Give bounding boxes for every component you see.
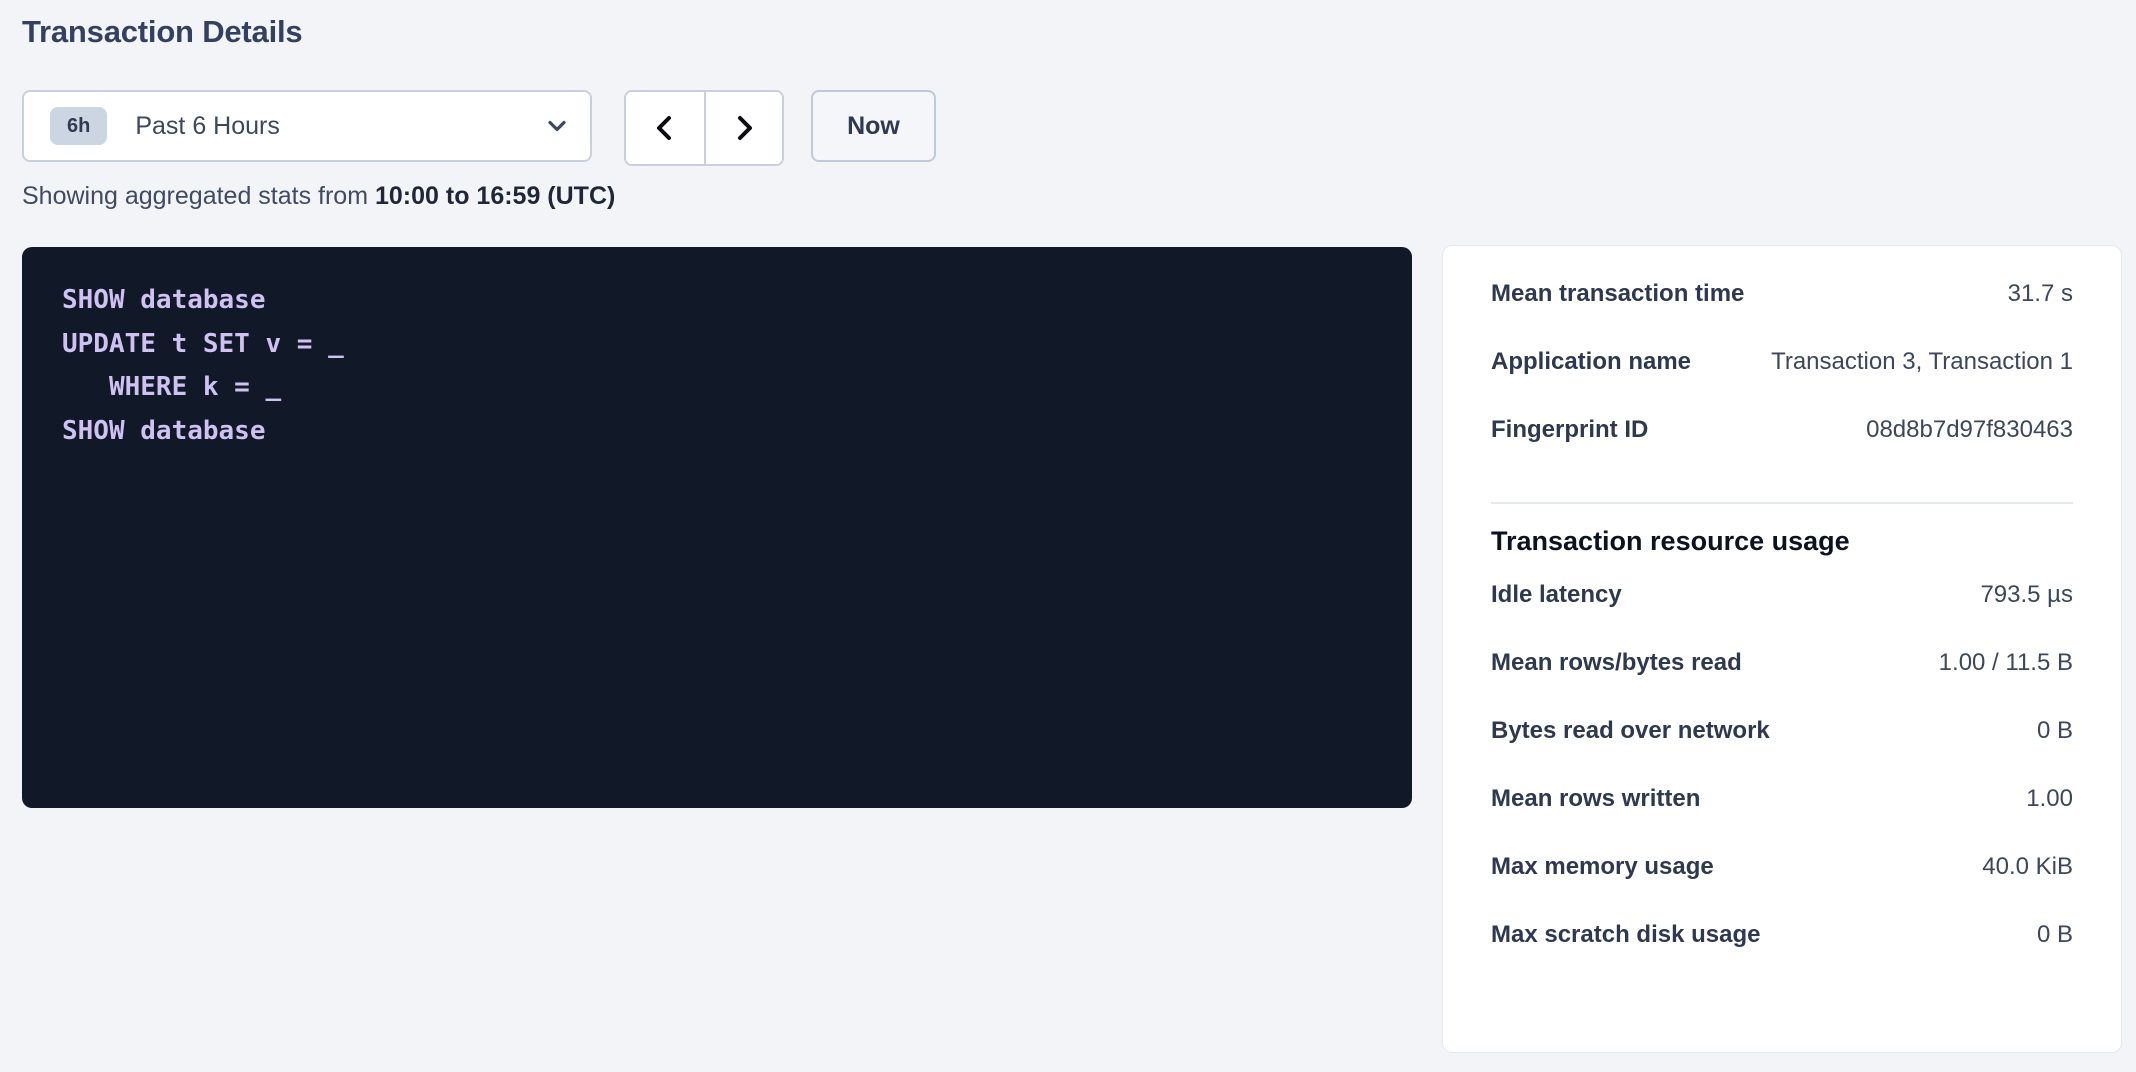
stat-label: Max scratch disk usage [1491, 921, 1760, 949]
aggregation-range-text: Showing aggregated stats from 10:00 to 1… [22, 182, 615, 211]
time-nav-group [624, 90, 784, 166]
chevron-down-icon [546, 115, 568, 137]
stat-label: Mean rows written [1491, 785, 1700, 813]
time-range-toolbar: 6h Past 6 Hours Now [22, 90, 936, 166]
stat-value: Transaction 3, Transaction 1 [1771, 348, 2073, 376]
stat-value: 40.0 KiB [1982, 853, 2073, 881]
stat-label: Fingerprint ID [1491, 416, 1648, 444]
sql-statement-panel: SHOW database UPDATE t SET v = _ WHERE k… [22, 247, 1412, 808]
transaction-details-page: Transaction Details 6h Past 6 Hours Now [0, 0, 2136, 1072]
stat-row: Max scratch disk usage 0 B [1491, 921, 2073, 989]
resource-usage-heading: Transaction resource usage [1491, 526, 2073, 557]
summary-stats-list: Mean transaction time 31.7 s Application… [1491, 280, 2073, 484]
now-button[interactable]: Now [811, 90, 936, 162]
stat-value: 31.7 s [2008, 280, 2073, 308]
time-range-label: Past 6 Hours [135, 112, 546, 141]
stat-value: 793.5 µs [1980, 581, 2073, 609]
stat-label: Max memory usage [1491, 853, 1714, 881]
stat-row: Idle latency 793.5 µs [1491, 581, 2073, 649]
aggregation-range-value: 10:00 to 16:59 (UTC) [375, 182, 615, 210]
stat-row: Fingerprint ID 08d8b7d97f830463 [1491, 416, 2073, 484]
stat-label: Idle latency [1491, 581, 1622, 609]
stat-label: Mean transaction time [1491, 280, 1744, 308]
stat-row: Mean rows/bytes read 1.00 / 11.5 B [1491, 649, 2073, 717]
stat-row: Application name Transaction 3, Transact… [1491, 348, 2073, 416]
stat-row: Max memory usage 40.0 KiB [1491, 853, 2073, 921]
page-title: Transaction Details [22, 14, 302, 50]
resource-stats-list: Idle latency 793.5 µs Mean rows/bytes re… [1491, 581, 2073, 989]
stat-value: 1.00 [2026, 785, 2073, 813]
next-period-button[interactable] [704, 92, 782, 164]
time-range-badge: 6h [50, 107, 107, 145]
time-range-select[interactable]: 6h Past 6 Hours [22, 90, 592, 162]
stat-value: 1.00 / 11.5 B [1939, 649, 2073, 677]
section-divider [1491, 502, 2073, 504]
transaction-stats-card: Mean transaction time 31.7 s Application… [1442, 245, 2122, 1053]
chevron-right-icon [729, 113, 759, 143]
aggregation-range-prefix: Showing aggregated stats from [22, 182, 375, 210]
stat-row: Mean rows written 1.00 [1491, 785, 2073, 853]
stat-value: 0 B [2037, 921, 2073, 949]
stat-value: 08d8b7d97f830463 [1866, 416, 2073, 444]
previous-period-button[interactable] [626, 92, 704, 164]
stat-label: Mean rows/bytes read [1491, 649, 1742, 677]
stat-value: 0 B [2037, 717, 2073, 745]
sql-statement-text: SHOW database UPDATE t SET v = _ WHERE k… [62, 279, 1372, 453]
stat-label: Bytes read over network [1491, 717, 1770, 745]
chevron-left-icon [650, 113, 680, 143]
stat-row: Mean transaction time 31.7 s [1491, 280, 2073, 348]
stat-row: Bytes read over network 0 B [1491, 717, 2073, 785]
stat-label: Application name [1491, 348, 1691, 376]
